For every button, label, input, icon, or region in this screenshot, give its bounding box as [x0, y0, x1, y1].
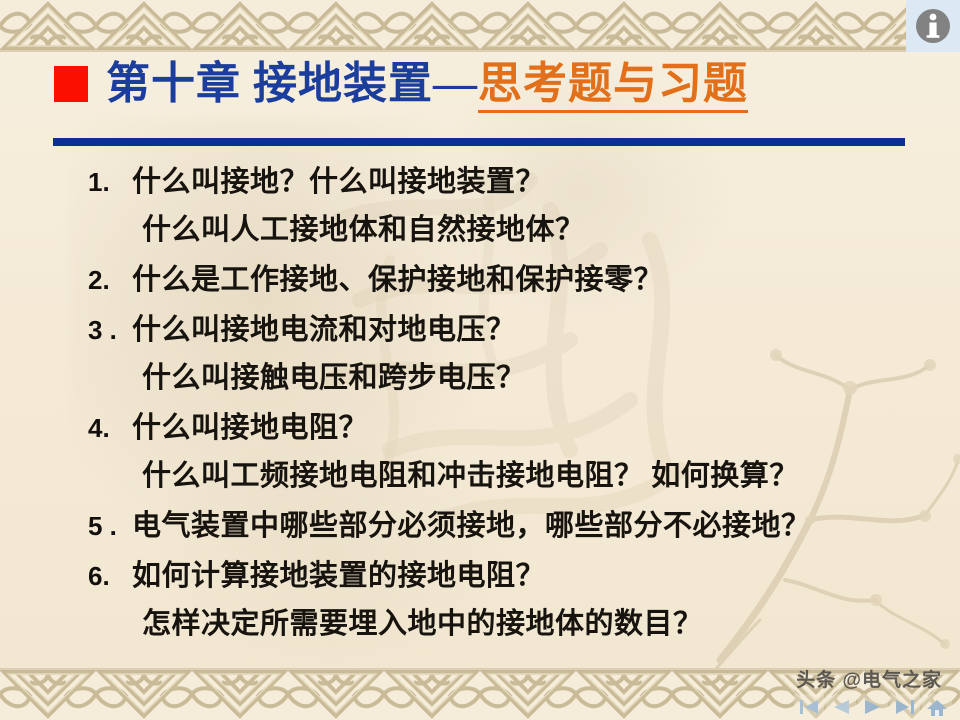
- question-subtext: 怎样决定所需要埋入地中的接地体的数目？: [142, 600, 703, 642]
- ornamental-border-top: [0, 0, 960, 52]
- question-text: 什么叫接地电流和对地电压？: [132, 306, 516, 348]
- title-underline-rule: [53, 138, 905, 146]
- info-icon[interactable]: [906, 0, 960, 52]
- question-text: 什么叫接地？什么叫接地装置？: [132, 158, 545, 200]
- question-number: 1.: [88, 167, 132, 198]
- question-text: 什么是工作接地、保护接地和保护接零？: [132, 256, 663, 298]
- question-number: 2.: [88, 265, 132, 296]
- list-item: 5 . 电气装置中哪些部分必须接地，哪些部分不必接地？: [88, 502, 928, 550]
- last-slide-button[interactable]: [890, 694, 920, 720]
- title-accent-text: 思考题与习题: [478, 59, 748, 113]
- home-slide-button[interactable]: [922, 694, 952, 720]
- question-text: 如何计算接地装置的接地电阻？: [132, 552, 545, 594]
- slide-title: 第十章 接地装置—思考题与习题: [54, 62, 748, 106]
- title-bullet-square: [54, 66, 88, 102]
- question-number: 4.: [88, 413, 132, 444]
- title-main-text: 第十章 接地装置—: [106, 59, 478, 108]
- question-list: 1. 什么叫接地？什么叫接地装置？ 什么叫人工接地体和自然接地体？ 2. 什么是…: [88, 158, 928, 650]
- presentation-slide: 第十章 接地装置—思考题与习题 1. 什么叫接地？什么叫接地装置？ 什么叫人工接…: [0, 0, 960, 720]
- question-subtext: 什么叫接触电压和跨步电压？: [142, 354, 526, 396]
- previous-slide-button[interactable]: [826, 694, 856, 720]
- question-text: 什么叫接地电阻？: [132, 404, 368, 446]
- question-subtext: 什么叫人工接地体和自然接地体？: [142, 206, 585, 248]
- source-watermark: 头条 @电气之家: [796, 665, 942, 692]
- question-number: 6.: [88, 561, 132, 592]
- first-slide-button[interactable]: [794, 694, 824, 720]
- question-number: 3 .: [88, 315, 132, 346]
- question-number: 5 .: [88, 511, 132, 542]
- question-text: 电气装置中哪些部分必须接地，哪些部分不必接地？: [132, 502, 811, 544]
- list-item: 4. 什么叫接地电阻？ 什么叫工频接地电阻和冲击接地电阻？ 如何换算？: [88, 404, 928, 500]
- next-slide-button[interactable]: [858, 694, 888, 720]
- slide-navigation-bar: [794, 694, 952, 720]
- list-item: 3 . 什么叫接地电流和对地电压？ 什么叫接触电压和跨步电压？: [88, 306, 928, 402]
- question-subtext: 什么叫工频接地电阻和冲击接地电阻？ 如何换算？: [142, 452, 799, 494]
- list-item: 2. 什么是工作接地、保护接地和保护接零？: [88, 256, 928, 304]
- list-item: 6. 如何计算接地装置的接地电阻？ 怎样决定所需要埋入地中的接地体的数目？: [88, 552, 928, 648]
- border-top-rule: [0, 50, 960, 52]
- list-item: 1. 什么叫接地？什么叫接地装置？ 什么叫人工接地体和自然接地体？: [88, 158, 928, 254]
